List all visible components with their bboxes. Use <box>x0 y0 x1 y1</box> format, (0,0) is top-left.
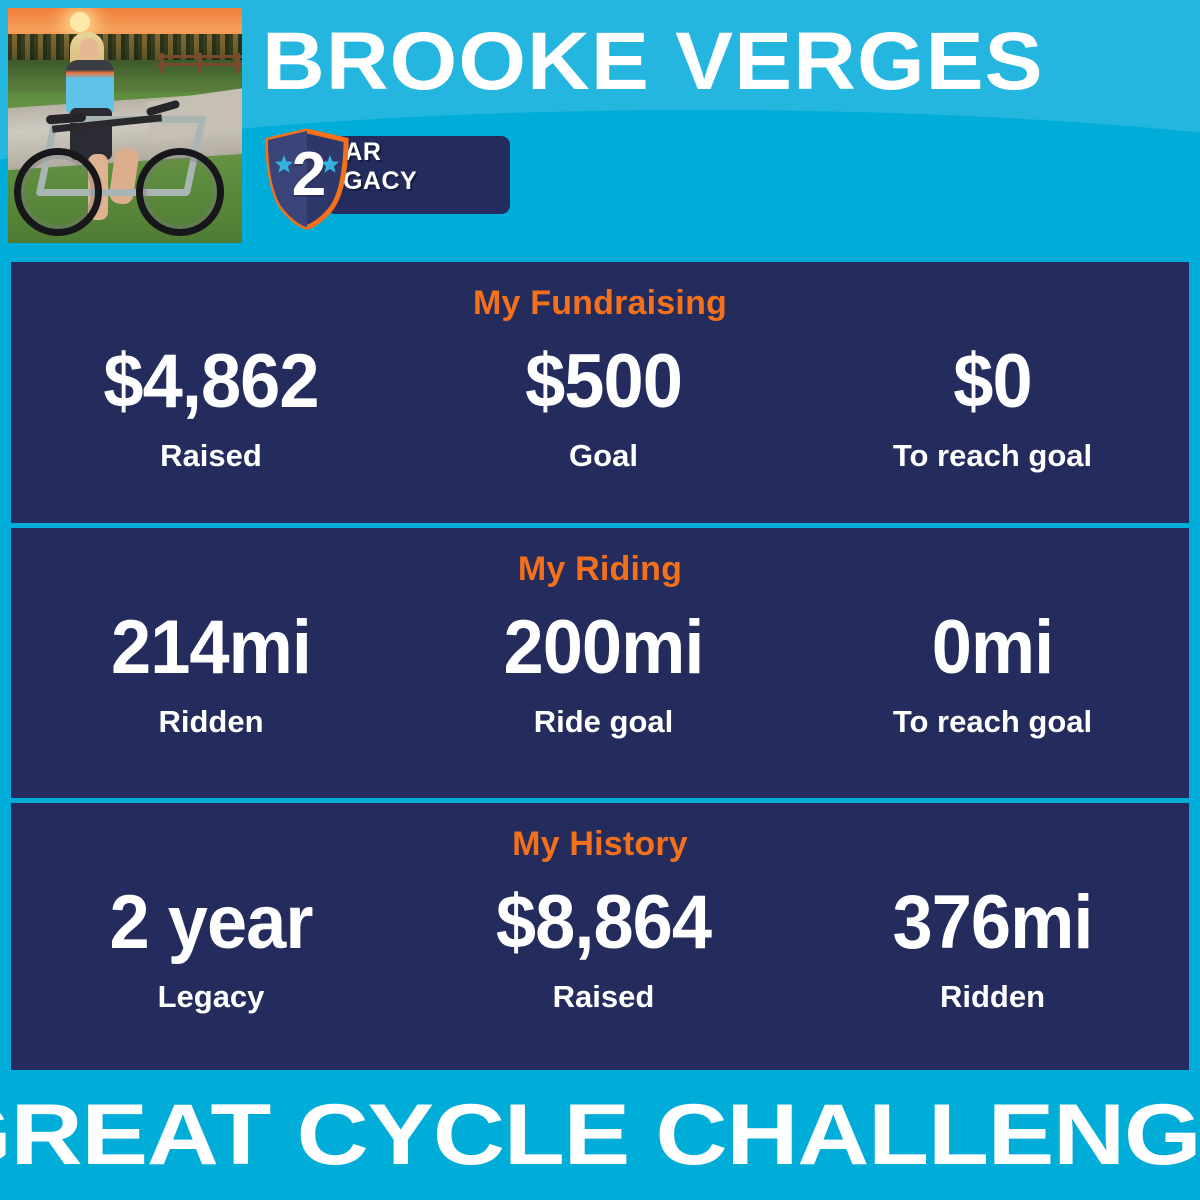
stat-raised-value: $4,862 <box>21 334 401 430</box>
section-title-riding: My Riding <box>11 550 1189 589</box>
fundraising-stats: $4,862 Raised $500 Goal $0 To reach goal <box>11 334 1189 476</box>
stat-legacy-label: Legacy <box>11 977 411 1017</box>
stat-legacy-value: 2 year <box>21 875 401 971</box>
bike-wheel-rear <box>14 148 102 236</box>
stat-ridden: 214mi Ridden <box>11 600 411 742</box>
riding-stats: 214mi Ridden 200mi Ride goal 0mi To reac… <box>11 600 1189 742</box>
legacy-badge-year: 2 <box>282 134 336 216</box>
history-stats: 2 year Legacy $8,864 Raised 376mi Ridden <box>11 875 1189 1017</box>
stat-history-raised-value: $8,864 <box>421 875 787 971</box>
stat-ride-to-reach-goal-label: To reach goal <box>796 702 1189 742</box>
stats-panel: My Fundraising $4,862 Raised $500 Goal $… <box>11 262 1189 1070</box>
stat-raised-label: Raised <box>11 436 411 476</box>
stat-to-reach-goal: $0 To reach goal <box>796 334 1189 476</box>
rider-photo <box>8 8 242 243</box>
stat-to-reach-goal-value: $0 <box>806 334 1179 430</box>
stat-raised: $4,862 Raised <box>11 334 411 476</box>
stat-history-ridden-label: Ridden <box>796 977 1189 1017</box>
section-title-history: My History <box>11 825 1189 864</box>
brand-wordmark: GREAT CYCLE CHALLENGE <box>0 1085 1200 1185</box>
stat-history-ridden: 376mi Ridden <box>796 875 1189 1017</box>
stat-goal-label: Goal <box>411 436 796 476</box>
footer-brand-bar: GREAT CYCLE CHALLENGE <box>0 1070 1200 1200</box>
stat-ridden-label: Ridden <box>11 702 411 742</box>
stat-history-raised: $8,864 Raised <box>411 875 796 1017</box>
stat-ride-goal: 200mi Ride goal <box>411 600 796 742</box>
stat-goal-value: $500 <box>421 334 787 430</box>
stat-history-ridden-value: 376mi <box>806 875 1179 971</box>
section-history: My History 2 year Legacy $8,864 Raised 3… <box>11 803 1189 1070</box>
stat-ride-goal-label: Ride goal <box>411 702 796 742</box>
header: BROOKE VERGES YEAR LEGACY 2 <box>0 0 1200 262</box>
rider-face <box>79 38 99 62</box>
stat-ride-to-reach-goal: 0mi To reach goal <box>796 600 1189 742</box>
stat-ride-goal-value: 200mi <box>421 600 787 696</box>
sun-icon <box>70 12 90 32</box>
photo-fence <box>158 53 242 75</box>
stat-goal: $500 Goal <box>411 334 796 476</box>
fundraising-poster: BROOKE VERGES YEAR LEGACY 2 My Fundrai <box>0 0 1200 1200</box>
section-fundraising: My Fundraising $4,862 Raised $500 Goal $… <box>11 262 1189 523</box>
rider-jersey <box>66 60 114 114</box>
stat-ridden-value: 214mi <box>21 600 401 696</box>
stat-ride-to-reach-goal-value: 0mi <box>806 600 1179 696</box>
stat-legacy: 2 year Legacy <box>11 875 411 1017</box>
legacy-badge: YEAR LEGACY 2 <box>264 128 510 230</box>
stat-history-raised-label: Raised <box>411 977 796 1017</box>
page-title: BROOKE VERGES <box>262 14 1200 110</box>
section-riding: My Riding 214mi Ridden 200mi Ride goal 0… <box>11 528 1189 798</box>
section-title-fundraising: My Fundraising <box>11 284 1189 323</box>
stat-to-reach-goal-label: To reach goal <box>796 436 1189 476</box>
bike-wheel-front <box>136 148 224 236</box>
